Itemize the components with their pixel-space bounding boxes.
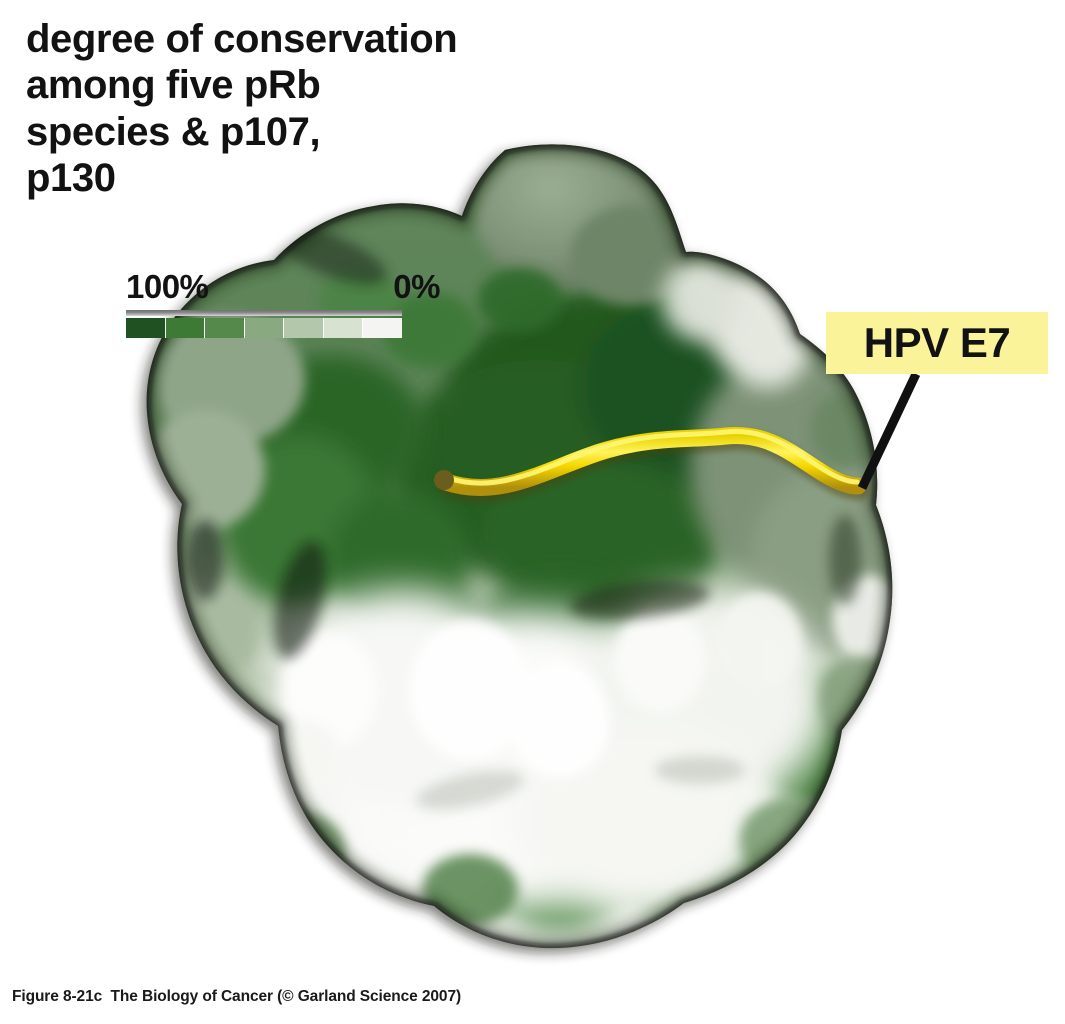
conservation-color-scale: 100% 0%: [126, 268, 402, 304]
scale-swatch-0: [363, 318, 402, 338]
scale-swatch-33: [284, 318, 324, 338]
figure-caption: Figure 8-21c The Biology of Cancer (© Ga…: [12, 988, 461, 1006]
hpv-e7-peptide-ribbon: [434, 431, 860, 492]
scale-swatch-67: [205, 318, 245, 338]
scale-top-rule: [126, 310, 402, 316]
peptide-n-terminus: [434, 470, 454, 490]
figure-root: degree of conservation among five pRb sp…: [0, 0, 1065, 1024]
scale-label-100-percent: 100%: [126, 268, 208, 306]
hpv-leader-line: [862, 374, 916, 488]
scale-label-0-percent: 0%: [393, 268, 440, 306]
scale-tick-labels: 100% 0%: [126, 268, 402, 304]
hpv-e7-label-box: HPV E7: [826, 312, 1048, 374]
scale-swatch-17: [324, 318, 364, 338]
scale-swatch-50: [245, 318, 285, 338]
scale-swatch-100: [126, 318, 166, 338]
scale-swatch-strip: [126, 318, 402, 338]
protein-surface-shading: [120, 130, 930, 970]
hpv-e7-label-text: HPV E7: [864, 322, 1010, 364]
scale-swatch-83: [166, 318, 206, 338]
conservation-legend-title: degree of conservation among five pRb sp…: [26, 16, 626, 202]
